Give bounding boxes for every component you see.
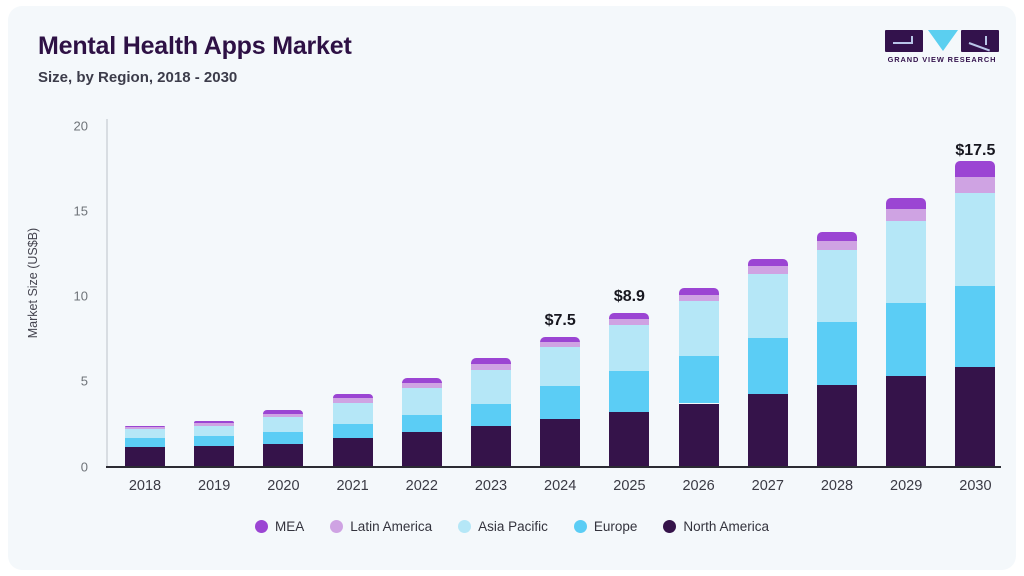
x-axis-tick-label: 2019: [174, 478, 254, 494]
bar-segment[interactable]: [402, 388, 442, 414]
bar-segment[interactable]: [263, 444, 303, 466]
bar-segment[interactable]: [194, 423, 234, 425]
bar-segment[interactable]: [817, 241, 857, 250]
bar-segment[interactable]: [955, 367, 995, 467]
bar-segment[interactable]: [609, 412, 649, 466]
bar-segment[interactable]: [194, 436, 234, 446]
legend-item[interactable]: MEA: [255, 519, 304, 534]
bar-segment[interactable]: [402, 415, 442, 433]
bar-segment[interactable]: [609, 319, 649, 325]
bar-segment[interactable]: [886, 376, 926, 466]
bar-segment[interactable]: [471, 404, 511, 426]
bar-group[interactable]: [955, 126, 995, 467]
bar-segment[interactable]: [955, 193, 995, 286]
bar-group[interactable]: [471, 126, 511, 467]
x-axis-tick-label: 2029: [866, 478, 946, 494]
bar-segment[interactable]: [679, 295, 719, 302]
bar-segment[interactable]: [333, 438, 373, 466]
legend-color-swatch: [574, 520, 587, 533]
bar-segment[interactable]: [955, 286, 995, 367]
stacked-bar-chart: Market Size (US$B) 05101520 201820192020…: [8, 6, 1016, 570]
bar-group[interactable]: [748, 126, 788, 467]
y-axis-tick-label: 15: [48, 204, 88, 219]
bar-segment[interactable]: [817, 322, 857, 385]
bar-segment[interactable]: [125, 429, 165, 438]
legend-color-swatch: [663, 520, 676, 533]
bar-segment[interactable]: [540, 419, 580, 467]
bar-segment[interactable]: [609, 371, 649, 412]
bar-group[interactable]: [125, 126, 165, 467]
bar-segment[interactable]: [886, 198, 926, 210]
bar-segment[interactable]: [194, 426, 234, 436]
bar-segment[interactable]: [886, 209, 926, 221]
bar-segment[interactable]: [402, 378, 442, 383]
legend-item[interactable]: Asia Pacific: [458, 519, 548, 534]
bar-segment[interactable]: [955, 161, 995, 177]
bar-group[interactable]: [194, 126, 234, 467]
bar-group[interactable]: [263, 126, 303, 467]
bar-segment[interactable]: [955, 177, 995, 193]
bar-segment[interactable]: [333, 403, 373, 424]
x-axis-tick-label: 2021: [313, 478, 393, 494]
y-axis-tick-label: 0: [48, 459, 88, 474]
legend-color-swatch: [330, 520, 343, 533]
bar-segment[interactable]: [125, 427, 165, 429]
x-axis-tick-label: 2022: [382, 478, 462, 494]
y-axis-line: [106, 119, 108, 467]
bar-segment[interactable]: [540, 386, 580, 418]
bar-segment[interactable]: [471, 364, 511, 370]
bar-segment[interactable]: [886, 303, 926, 376]
legend-label: Asia Pacific: [478, 519, 548, 534]
bar-segment[interactable]: [679, 288, 719, 295]
bar-segment[interactable]: [817, 232, 857, 241]
bar-segment[interactable]: [333, 424, 373, 438]
bar-group[interactable]: [817, 126, 857, 467]
bar-segment[interactable]: [125, 438, 165, 447]
legend-label: North America: [683, 519, 769, 534]
legend-label: MEA: [275, 519, 304, 534]
bar-segment[interactable]: [333, 398, 373, 402]
bar-segment[interactable]: [263, 414, 303, 417]
bar-segment[interactable]: [748, 266, 788, 274]
x-axis-tick-label: 2028: [797, 478, 877, 494]
chart-legend: MEALatin AmericaAsia PacificEuropeNorth …: [8, 519, 1016, 534]
legend-color-swatch: [458, 520, 471, 533]
x-axis-tick-label: 2018: [105, 478, 185, 494]
bar-segment[interactable]: [471, 358, 511, 364]
bar-segment[interactable]: [609, 325, 649, 371]
bar-segment[interactable]: [540, 342, 580, 347]
legend-label: Latin America: [350, 519, 432, 534]
bar-group[interactable]: [886, 126, 926, 467]
bar-segment[interactable]: [886, 221, 926, 303]
bar-segment[interactable]: [748, 338, 788, 394]
bar-segment[interactable]: [402, 432, 442, 466]
x-axis-tick-label: 2020: [243, 478, 323, 494]
bar-segment[interactable]: [471, 426, 511, 466]
bar-segment[interactable]: [402, 383, 442, 388]
bar-segment[interactable]: [748, 274, 788, 338]
bar-segment[interactable]: [748, 259, 788, 267]
bar-segment[interactable]: [194, 446, 234, 466]
bar-segment[interactable]: [817, 385, 857, 467]
x-axis-tick-label: 2023: [451, 478, 531, 494]
bar-segment[interactable]: [263, 410, 303, 413]
bar-group[interactable]: [540, 126, 580, 467]
legend-item[interactable]: North America: [663, 519, 769, 534]
bar-group[interactable]: [679, 126, 719, 467]
y-axis-label: Market Size (US$B): [26, 183, 40, 383]
chart-card: Mental Health Apps Market Size, by Regio…: [8, 6, 1016, 570]
x-axis-tick-label: 2026: [659, 478, 739, 494]
bar-group[interactable]: [402, 126, 442, 467]
y-axis-tick-label: 20: [48, 119, 88, 134]
x-axis-tick-label: 2024: [520, 478, 600, 494]
bar-value-label: $7.5: [515, 312, 605, 330]
y-axis-tick-label: 5: [48, 374, 88, 389]
bar-segment[interactable]: [748, 394, 788, 466]
legend-color-swatch: [255, 520, 268, 533]
bar-segment[interactable]: [333, 394, 373, 398]
legend-item[interactable]: Europe: [574, 519, 638, 534]
bar-segment[interactable]: [679, 301, 719, 355]
bar-segment[interactable]: [263, 432, 303, 444]
bar-segment[interactable]: [540, 337, 580, 342]
bar-value-label: $8.9: [584, 288, 674, 306]
bar-segment[interactable]: [679, 356, 719, 404]
legend-label: Europe: [594, 519, 638, 534]
y-axis-tick-label: 10: [48, 289, 88, 304]
bar-group[interactable]: [333, 126, 373, 467]
x-axis-tick-label: 2025: [589, 478, 669, 494]
x-axis-tick-label: 2027: [728, 478, 808, 494]
bar-segment[interactable]: [817, 250, 857, 322]
bar-value-label: $17.5: [930, 142, 1016, 160]
bar-segment[interactable]: [540, 347, 580, 386]
bar-segment[interactable]: [125, 447, 165, 467]
bar-segment[interactable]: [609, 313, 649, 319]
bar-segment[interactable]: [263, 417, 303, 432]
x-axis-tick-label: 2030: [935, 478, 1015, 494]
bar-segment[interactable]: [679, 404, 719, 467]
legend-item[interactable]: Latin America: [330, 519, 432, 534]
bar-segment[interactable]: [471, 370, 511, 404]
